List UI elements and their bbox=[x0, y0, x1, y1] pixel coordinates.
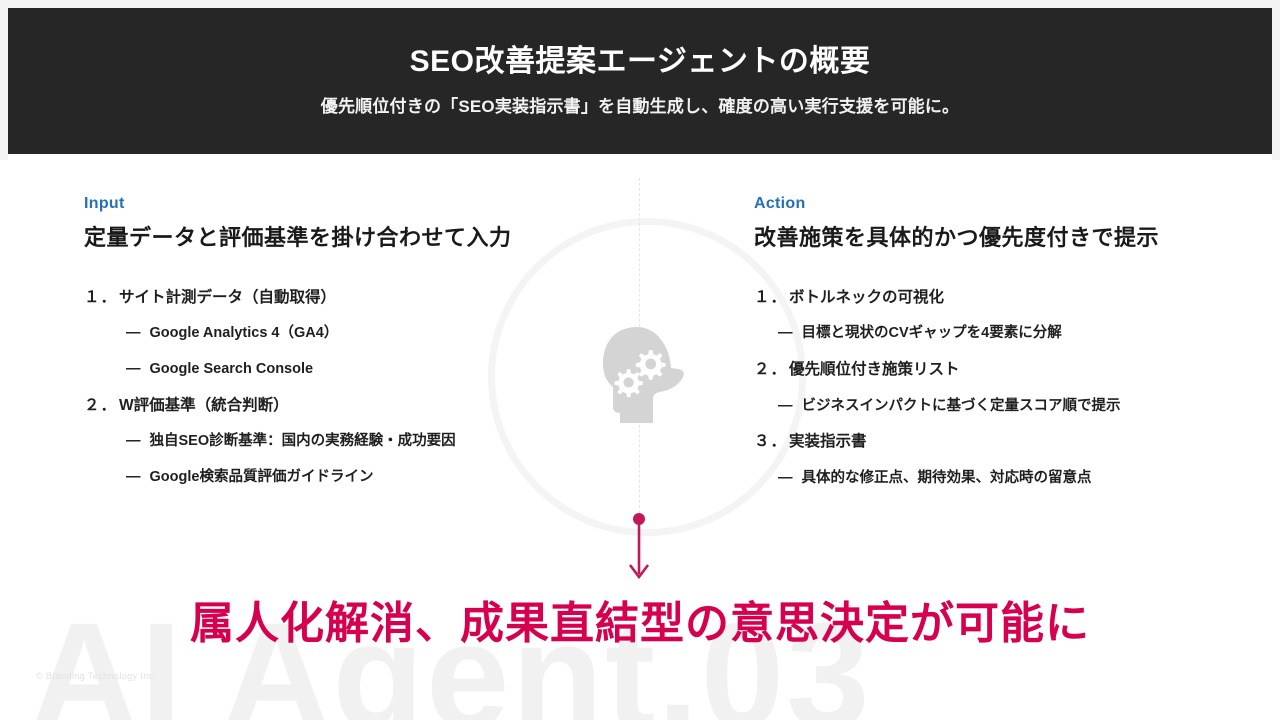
heading-action: 改善施策を具体的かつ優先度付きで提示 bbox=[754, 224, 1224, 252]
sub-item-text: Google検索品質評価ガイドライン bbox=[150, 468, 595, 488]
numbered-item: ２． W評価基準（統合判断） bbox=[84, 396, 594, 417]
frame-right-edge bbox=[1272, 0, 1280, 160]
down-arrow-icon bbox=[619, 512, 659, 584]
sub-item: — ビジネスインパクトに基づく定量スコア順で提示 bbox=[778, 397, 1224, 417]
frame-left-edge bbox=[0, 0, 8, 160]
numbered-item: １． サイト計測データ（自動取得） bbox=[84, 288, 594, 309]
item-number: ２． bbox=[754, 360, 787, 381]
sub-item-text: 具体的な修正点、期待効果、対応時の留意点 bbox=[802, 469, 1225, 489]
slide-header: SEO改善提案エージェントの概要 優先順位付きの「SEO実装指示書」を自動生成し… bbox=[8, 8, 1272, 154]
list-item: １． ボトルネックの可視化 — 目標と現状のCVギャップを4要素に分解 bbox=[754, 288, 1224, 344]
dash-icon: — bbox=[778, 397, 793, 417]
sub-item: — Google Search Console bbox=[126, 360, 594, 380]
page-subtitle: 優先順位付きの「SEO実装指示書」を自動生成し、確度の高い実行支援を可能に。 bbox=[321, 96, 960, 118]
column-input: Input 定量データと評価基準を掛け合わせて入力 １． サイト計測データ（自動… bbox=[84, 196, 594, 504]
list-action: １． ボトルネックの可視化 — 目標と現状のCVギャップを4要素に分解 ２． 優… bbox=[754, 288, 1224, 489]
kicker-action: Action bbox=[754, 196, 1224, 212]
numbered-item: １． ボトルネックの可視化 bbox=[754, 288, 1224, 309]
heading-input: 定量データと評価基準を掛け合わせて入力 bbox=[84, 224, 594, 252]
dash-icon: — bbox=[126, 324, 141, 344]
frame-top-edge bbox=[0, 0, 1280, 8]
sub-item-text: 目標と現状のCVギャップを4要素に分解 bbox=[802, 324, 1225, 344]
tagline: 属人化解消、成果直結型の意思決定が可能に bbox=[0, 598, 1280, 651]
dash-icon: — bbox=[778, 469, 793, 489]
dash-icon: — bbox=[778, 324, 793, 344]
list-item: ２． W評価基準（統合判断） — 独自SEO診断基準：国内の実務経験・成功要因 … bbox=[84, 396, 594, 488]
sub-item: — 独自SEO診断基準：国内の実務経験・成功要因 bbox=[126, 432, 594, 452]
dash-icon: — bbox=[126, 468, 141, 488]
item-text: サイト計測データ（自動取得） bbox=[119, 288, 594, 309]
dash-icon: — bbox=[126, 432, 141, 452]
numbered-item: ３． 実装指示書 bbox=[754, 432, 1224, 453]
item-text: 優先順位付き施策リスト bbox=[789, 360, 1224, 381]
numbered-item: ２． 優先順位付き施策リスト bbox=[754, 360, 1224, 381]
item-number: ３． bbox=[754, 432, 787, 453]
footer-copyright: © Branding Technology Inc. bbox=[36, 671, 156, 681]
head-with-gears-icon bbox=[597, 325, 693, 425]
sub-item-text: 独自SEO診断基準：国内の実務経験・成功要因 bbox=[150, 432, 595, 452]
page-title: SEO改善提案エージェントの概要 bbox=[410, 44, 871, 80]
item-text: ボトルネックの可視化 bbox=[789, 288, 1224, 309]
item-text: W評価基準（統合判断） bbox=[119, 396, 594, 417]
dash-icon: — bbox=[126, 360, 141, 380]
slide-canvas: AI Agent.03 SEO改善提案エージェントの概要 優先順位付きの「SEO… bbox=[0, 0, 1280, 720]
sub-item-text: ビジネスインパクトに基づく定量スコア順で提示 bbox=[802, 397, 1225, 417]
sub-item-text: Google Analytics 4（GA4） bbox=[150, 324, 595, 344]
sub-item: — Google Analytics 4（GA4） bbox=[126, 324, 594, 344]
column-action: Action 改善施策を具体的かつ優先度付きで提示 １． ボトルネックの可視化 … bbox=[754, 196, 1224, 505]
item-text: 実装指示書 bbox=[789, 432, 1224, 453]
sub-item: — 具体的な修正点、期待効果、対応時の留意点 bbox=[778, 469, 1224, 489]
item-number: １． bbox=[84, 288, 117, 309]
item-number: ２． bbox=[84, 396, 117, 417]
kicker-input: Input bbox=[84, 196, 594, 212]
list-item: １． サイト計測データ（自動取得） — Google Analytics 4（G… bbox=[84, 288, 594, 380]
list-item: ３． 実装指示書 — 具体的な修正点、期待効果、対応時の留意点 bbox=[754, 432, 1224, 488]
list-item: ２． 優先順位付き施策リスト — ビジネスインパクトに基づく定量スコア順で提示 bbox=[754, 360, 1224, 416]
sub-item: — Google検索品質評価ガイドライン bbox=[126, 468, 594, 488]
sub-item-text: Google Search Console bbox=[150, 360, 595, 380]
list-input: １． サイト計測データ（自動取得） — Google Analytics 4（G… bbox=[84, 288, 594, 488]
sub-item: — 目標と現状のCVギャップを4要素に分解 bbox=[778, 324, 1224, 344]
item-number: １． bbox=[754, 288, 787, 309]
